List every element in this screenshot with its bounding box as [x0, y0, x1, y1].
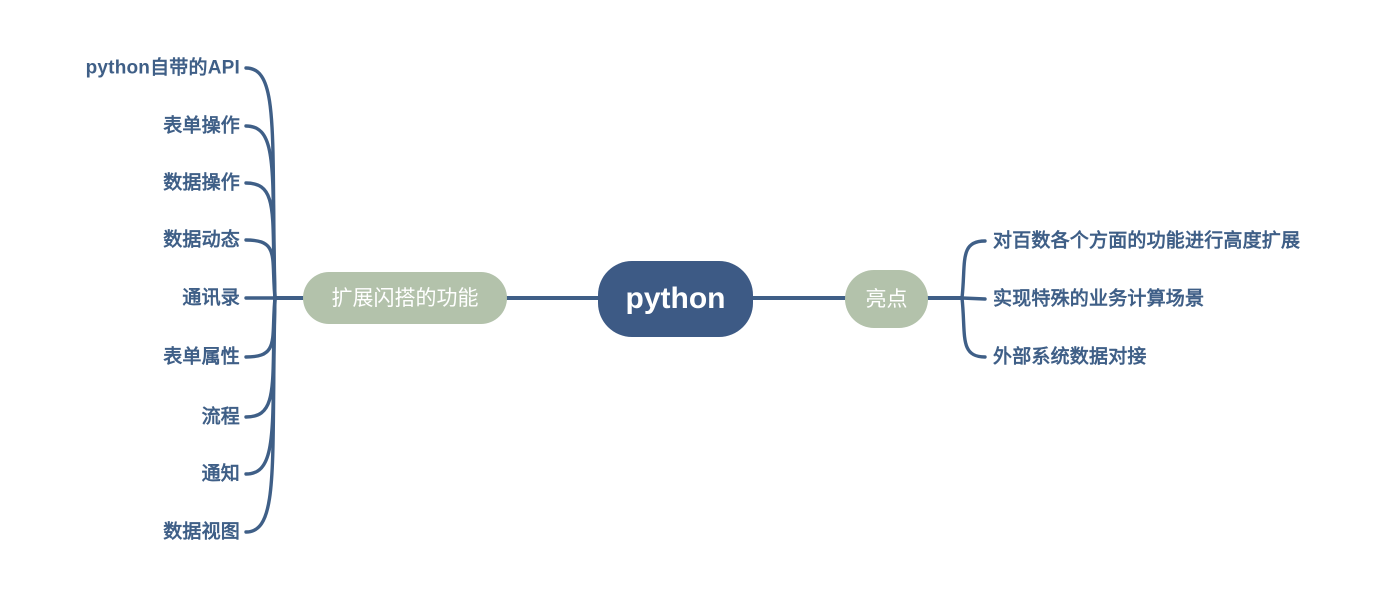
leaf-label-left-2[interactable]: 数据操作: [0, 174, 240, 193]
mindmap-canvas: python自带的API表单操作数据操作数据动态通讯录表单属性流程通知数据视图对…: [0, 0, 1397, 601]
leaf-label-left-4[interactable]: 通讯录: [0, 289, 240, 308]
leaf-label-right-1[interactable]: 实现特殊的业务计算场景: [993, 290, 1204, 309]
right-branch-curve-0: [962, 241, 985, 298]
leaf-label-right-0[interactable]: 对百数各个方面的功能进行高度扩展: [993, 232, 1300, 251]
leaf-label-left-6[interactable]: 流程: [0, 408, 240, 427]
right-branch-curve-2: [962, 298, 985, 357]
left-branch-curve-3: [246, 240, 275, 298]
leaf-label-left-0[interactable]: python自带的API: [0, 59, 240, 78]
right-branch-curve-1: [962, 298, 985, 299]
node-highlights-label: 亮点: [866, 289, 908, 310]
leaf-label-left-8[interactable]: 数据视图: [0, 523, 240, 542]
node-extend-features-label: 扩展闪搭的功能: [332, 288, 479, 309]
leaf-label-left-7[interactable]: 通知: [0, 465, 240, 484]
leaf-label-left-3[interactable]: 数据动态: [0, 231, 240, 250]
leaf-label-right-2[interactable]: 外部系统数据对接: [993, 348, 1147, 367]
node-python-center[interactable]: python: [598, 261, 753, 337]
leaf-label-left-1[interactable]: 表单操作: [0, 117, 240, 136]
node-highlights[interactable]: 亮点: [845, 270, 928, 328]
node-python-center-label: python: [626, 284, 726, 314]
node-extend-features[interactable]: 扩展闪搭的功能: [303, 272, 507, 324]
left-branch-curve-5: [246, 298, 275, 357]
leaf-label-left-5[interactable]: 表单属性: [0, 348, 240, 367]
